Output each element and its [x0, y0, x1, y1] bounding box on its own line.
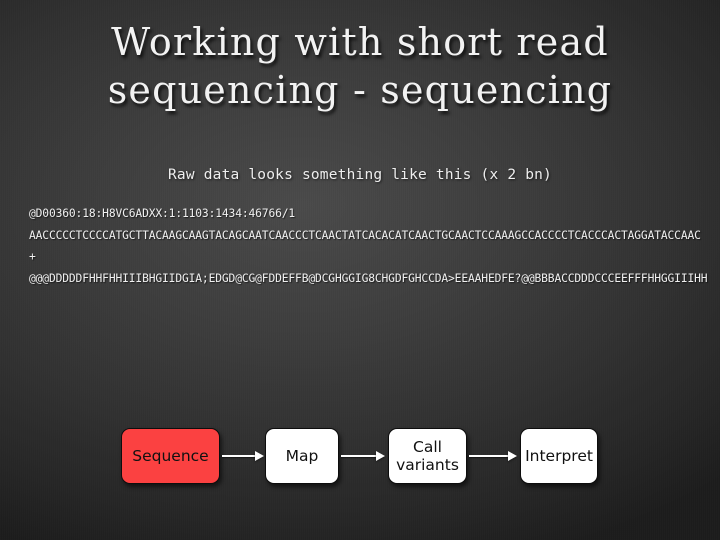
flow-step-call-variants[interactable]: Call variants — [388, 428, 467, 484]
flow-step-call-variants-label-1: Call — [413, 438, 442, 456]
arrow-map-to-call-variants — [341, 451, 385, 461]
flow-step-interpret[interactable]: Interpret — [520, 428, 598, 484]
arrow-head — [255, 451, 264, 461]
arrow-shaft — [222, 455, 255, 457]
flow-step-interpret-label: Interpret — [525, 447, 593, 465]
workflow-diagram: Sequence Map Call variants Interpret — [0, 0, 720, 540]
arrow-sequence-to-map — [222, 451, 264, 461]
flow-step-sequence[interactable]: Sequence — [121, 428, 220, 484]
flow-step-sequence-label: Sequence — [132, 447, 208, 465]
flow-step-map-label: Map — [286, 447, 319, 465]
arrow-shaft — [341, 455, 376, 457]
arrow-call-variants-to-interpret — [469, 451, 517, 461]
arrow-shaft — [469, 455, 508, 457]
arrow-head — [508, 451, 517, 461]
slide-canvas: Working with short read sequencing - seq… — [0, 0, 720, 540]
flow-step-map[interactable]: Map — [265, 428, 339, 484]
arrow-head — [376, 451, 385, 461]
flow-step-call-variants-label-2: variants — [396, 456, 459, 474]
